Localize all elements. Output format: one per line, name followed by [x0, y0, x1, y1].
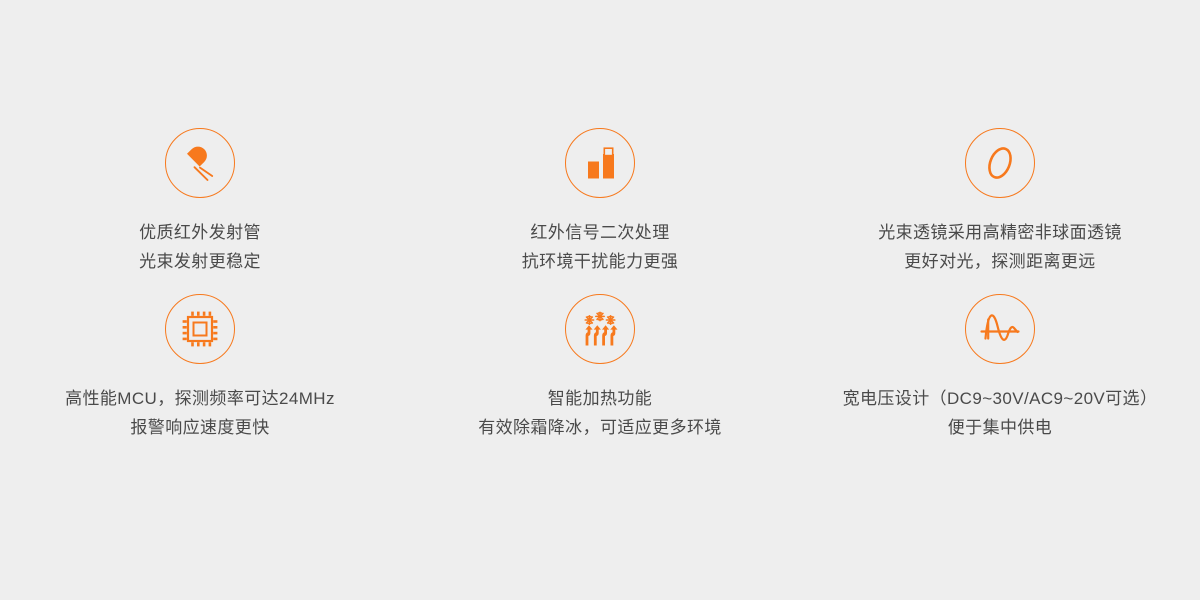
signal-bar-chart-icon [565, 128, 635, 198]
feature-cell-aspherical-lens: 光束透镜采用高精密非球面透镜 更好对光，探测距离更远 [800, 128, 1200, 294]
feature-line-1: 优质红外发射管 [139, 218, 261, 247]
feature-cell-infrared-emitter: 优质红外发射管 光束发射更稳定 [0, 128, 400, 294]
feature-cell-mcu: 高性能MCU，探测频率可达24MHz 报警响应速度更快 [0, 294, 400, 460]
feature-line-1: 红外信号二次处理 [522, 218, 679, 247]
feature-grid: 优质红外发射管 光束发射更稳定 红外信号二次处理 抗环境干扰能力更强 [0, 0, 1200, 600]
feature-cell-wide-voltage: 宽电压设计（DC9~30V/AC9~20V可选） 便于集中供电 [800, 294, 1200, 460]
aspherical-lens-icon [965, 128, 1035, 198]
feature-line-2: 更好对光，探测距离更远 [878, 247, 1122, 276]
feature-text: 智能加热功能 有效除霜降冰，可适应更多环境 [478, 384, 722, 442]
feature-line-2: 抗环境干扰能力更强 [522, 247, 679, 276]
feature-line-2: 有效除霜降冰，可适应更多环境 [478, 413, 722, 442]
feature-text: 优质红外发射管 光束发射更稳定 [139, 218, 261, 276]
voltage-waveform-icon [965, 294, 1035, 364]
feature-line-1: 宽电压设计（DC9~30V/AC9~20V可选） [843, 384, 1158, 413]
feature-line-1: 光束透镜采用高精密非球面透镜 [878, 218, 1122, 247]
feature-line-2: 便于集中供电 [843, 413, 1158, 442]
feature-text: 高性能MCU，探测频率可达24MHz 报警响应速度更快 [65, 384, 335, 442]
feature-line-1: 高性能MCU，探测频率可达24MHz [65, 384, 335, 413]
feature-cell-signal-processing: 红外信号二次处理 抗环境干扰能力更强 [400, 128, 800, 294]
feature-line-2: 报警响应速度更快 [65, 413, 335, 442]
feature-line-2: 光束发射更稳定 [139, 247, 261, 276]
feature-line-1: 智能加热功能 [478, 384, 722, 413]
infrared-emitter-icon [165, 128, 235, 198]
feature-text: 宽电压设计（DC9~30V/AC9~20V可选） 便于集中供电 [843, 384, 1158, 442]
feature-text: 光束透镜采用高精密非球面透镜 更好对光，探测距离更远 [878, 218, 1122, 276]
feature-row-bottom: 高性能MCU，探测频率可达24MHz 报警响应速度更快 [0, 294, 1200, 460]
feature-row-top: 优质红外发射管 光束发射更稳定 红外信号二次处理 抗环境干扰能力更强 [0, 128, 1200, 294]
mcu-chip-icon [165, 294, 235, 364]
feature-cell-heating: 智能加热功能 有效除霜降冰，可适应更多环境 [400, 294, 800, 460]
defrost-heating-icon [565, 294, 635, 364]
feature-text: 红外信号二次处理 抗环境干扰能力更强 [522, 218, 679, 276]
